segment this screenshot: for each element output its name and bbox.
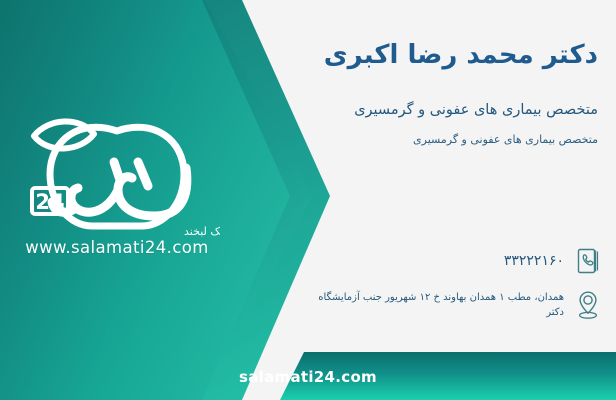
logo-website-url: www.salamati24.com: [14, 238, 220, 257]
phone-number: ۳۳۲۲۲۱۶۰: [330, 253, 564, 269]
badge-24: 24: [32, 188, 68, 214]
doctor-specialty-secondary: متخصص بیماری های عفونی و گرمسیری: [334, 132, 598, 149]
logo-artwork: 24 به راحتی یک لبخند: [14, 104, 220, 244]
doctor-name: دکتر محمد رضا اکبری: [334, 38, 598, 73]
address-text: همدان، مطب ۱ همدان بهاوند خ ۱۲ شهریور جن…: [312, 290, 564, 320]
brand-logo: 24 به راحتی یک لبخند www.salamati24.com: [14, 104, 220, 276]
contact-row-phone: ۳۳۲۲۲۱۶۰: [330, 246, 602, 276]
map-pin-icon: [574, 290, 602, 320]
business-card: 24 به راحتی یک لبخند www.salamati24.com …: [0, 0, 616, 400]
logo-tagline: به راحتی یک لبخند: [184, 225, 220, 238]
phonebook-icon: [574, 246, 602, 276]
card-content: دکتر محمد رضا اکبری متخصص بیماری های عفو…: [316, 0, 616, 400]
badge-24-label: 24: [35, 190, 64, 214]
contact-row-address: همدان، مطب ۱ همدان بهاوند خ ۱۲ شهریور جن…: [312, 290, 602, 320]
brand-script-mark: [52, 162, 187, 216]
doctor-specialty-primary: متخصص بیماری های عفونی و گرمسیری: [334, 100, 598, 122]
